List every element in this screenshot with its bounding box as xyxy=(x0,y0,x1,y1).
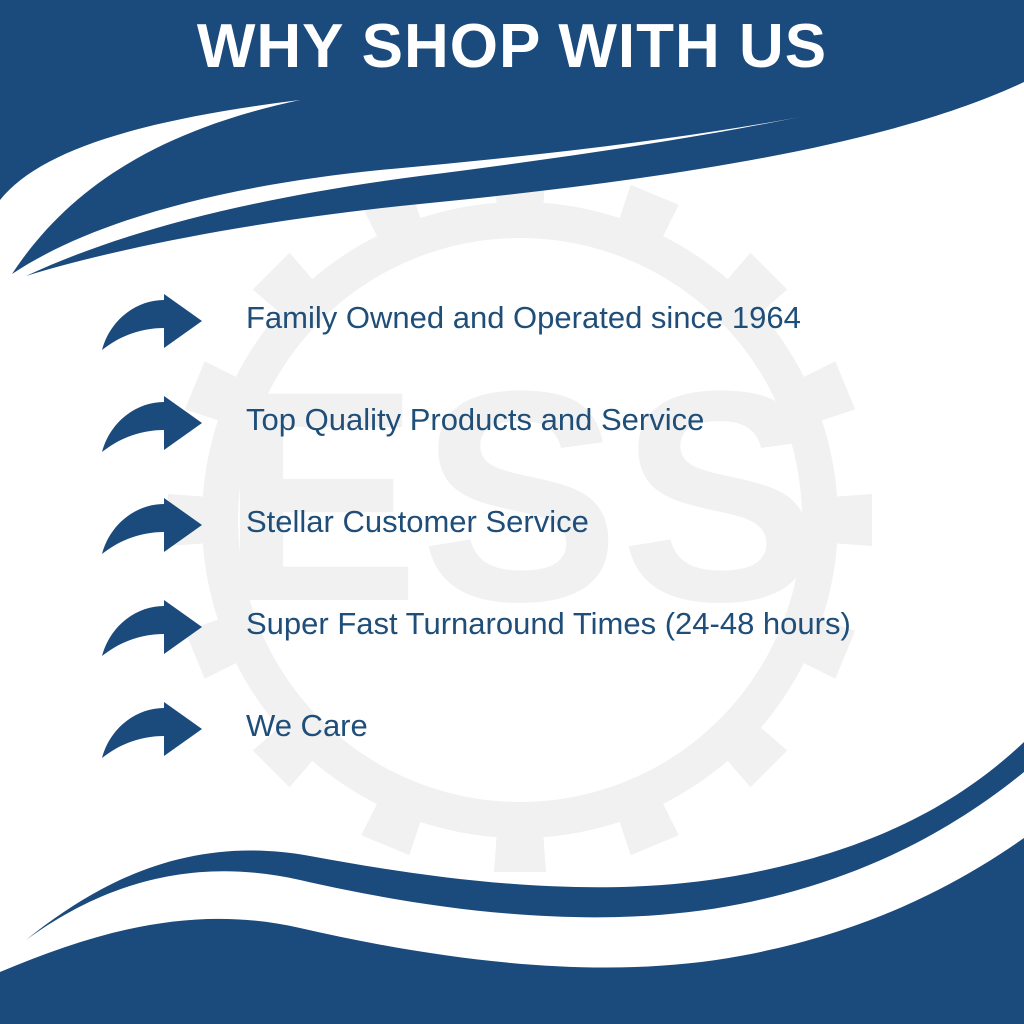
header-wave-ribbon xyxy=(26,56,1024,276)
list-item: We Care xyxy=(100,700,980,802)
list-item-label: Super Fast Turnaround Times (24-48 hours… xyxy=(246,606,980,642)
list-item-label: We Care xyxy=(246,708,980,744)
curved-arrow-icon xyxy=(100,498,204,560)
curved-arrow-icon xyxy=(100,600,204,662)
page-title: WHY SHOP WITH US xyxy=(0,14,1024,79)
why-shop-with-us-graphic: ESS WHY SHOP WITH US Family Owned and Op… xyxy=(0,0,1024,1024)
list-item-label: Top Quality Products and Service xyxy=(246,402,980,438)
list-item-label: Stellar Customer Service xyxy=(246,504,980,540)
curved-arrow-icon xyxy=(100,702,204,764)
list-item-label: Family Owned and Operated since 1964 xyxy=(246,300,980,336)
list-item: Super Fast Turnaround Times (24-48 hours… xyxy=(100,598,980,700)
list-item: Family Owned and Operated since 1964 xyxy=(100,292,980,394)
curved-arrow-icon xyxy=(100,294,204,356)
curved-arrow-icon xyxy=(100,396,204,458)
benefits-list: Family Owned and Operated since 1964 Top… xyxy=(100,292,980,802)
list-item: Top Quality Products and Service xyxy=(100,394,980,496)
footer-wave-shape xyxy=(0,838,1024,1024)
list-item: Stellar Customer Service xyxy=(100,496,980,598)
